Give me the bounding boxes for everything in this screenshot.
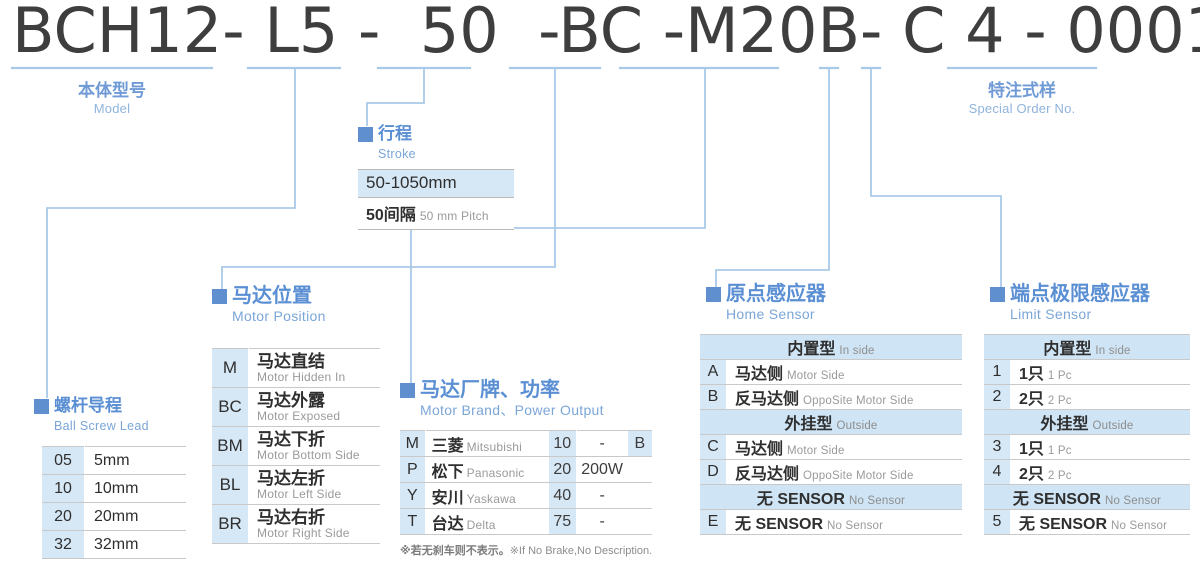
bullet-square-icon [34, 399, 49, 414]
section-stroke-cn-text: 行程 [378, 122, 412, 146]
table-ball-screw-lead: 055mm1010mm2020mm3232mm [42, 446, 186, 559]
stroke-pitch-cn: 50间隔 [366, 207, 416, 224]
home-sensor-value-cell: 反马达侧OppoSite Motor Side [727, 460, 963, 485]
section-motor-brand-title-en: Motor Brand、Power Output [420, 402, 604, 419]
limit-sensor-group-header: 内置型In side [984, 335, 1190, 360]
motor-brand-brake-cell [628, 509, 652, 535]
table-row: 11只1 Pc [984, 360, 1190, 385]
limit-sensor-code-cell: 5 [984, 510, 1011, 535]
home-sensor-value-cell: 无 SENSORNo Sensor [727, 510, 963, 535]
table-row: B反马达侧OppoSite Motor Side [700, 385, 962, 410]
stroke-pitch-en: 50 mm Pitch [420, 209, 489, 223]
motor-brand-power-cell: - [576, 483, 627, 509]
table-row: 22只2 Pc [984, 385, 1190, 410]
table-ball-screw-lead-body: 055mm1010mm2020mm3232mm [42, 447, 186, 559]
motor-brand-power-code-cell: 10 [549, 431, 576, 457]
home-sensor-group-header: 外挂型Outside [700, 410, 962, 435]
home-sensor-group-header: 无 SENSORNo Sensor [700, 485, 962, 510]
limit-sensor-group-row: 外挂型Outside [984, 410, 1190, 435]
motor-brand-brake-cell [628, 483, 652, 509]
motor-position-code-cell: BC [212, 388, 249, 427]
bullet-square-icon [358, 127, 373, 142]
table-row: M马达直结Motor Hidden In [212, 349, 380, 388]
limit-sensor-value-cell: 无 SENSORNo Sensor [1011, 510, 1191, 535]
motor-brand-name-cell: 安川Yaskawa [425, 483, 549, 509]
home-sensor-value-cell: 马达侧Motor Side [727, 360, 963, 385]
home-sensor-code-cell: B [700, 385, 727, 410]
home-sensor-code-cell: A [700, 360, 727, 385]
table-limit-sensor-body: 内置型In side11只1 Pc22只2 Pc外挂型Outside31只1 P… [984, 335, 1190, 535]
lead-code-cell: 10 [42, 475, 85, 503]
lead-value-cell: 20mm [85, 503, 187, 531]
label-model: 本体型号 Model [12, 80, 212, 117]
bullet-square-icon [400, 383, 415, 398]
table-motor-position: M马达直结Motor Hidden InBC马达外露Motor ExposedB… [212, 348, 380, 544]
home-sensor-group-row: 无 SENSORNo Sensor [700, 485, 962, 510]
home-sensor-group-row: 内置型In side [700, 335, 962, 360]
home-sensor-code-cell: D [700, 460, 727, 485]
section-ball-screw-lead-cn-text: 螺杆导程 [54, 394, 122, 418]
section-ball-screw-lead-title-en: Ball Screw Lead [54, 418, 149, 435]
stroke-pitch: 50间隔50 mm Pitch [358, 198, 514, 230]
section-limit-sensor-title-en: Limit Sensor [1010, 306, 1150, 323]
section-home-sensor-title-en: Home Sensor [726, 306, 826, 323]
motor-brand-power-cell: - [576, 431, 627, 457]
motor-position-code-cell: BR [212, 505, 249, 544]
section-home-sensor-heading: 原点感应器 Home Sensor [706, 282, 826, 323]
section-motor-brand-cn-text: 马达厂牌、功率 [420, 378, 560, 402]
motor-position-value-cell: 马达下折Motor Bottom Side [249, 427, 381, 466]
motor-position-code-cell: BL [212, 466, 249, 505]
label-model-en: Model [12, 101, 212, 117]
table-row: E无 SENSORNo Sensor [700, 510, 962, 535]
table-row: 31只1 Pc [984, 435, 1190, 460]
limit-sensor-value-cell: 1只1 Pc [1011, 435, 1191, 460]
table-row: 2020mm [42, 503, 186, 531]
lead-code-cell: 20 [42, 503, 85, 531]
label-special-order-cn: 特注式样 [948, 80, 1096, 101]
motor-brand-power-code-cell: 40 [549, 483, 576, 509]
section-ball-screw-lead-heading: 螺杆导程 Ball Screw Lead [34, 394, 149, 435]
table-row: C马达侧Motor Side [700, 435, 962, 460]
table-motor-brand-body: M三菱Mitsubishi10-BP松下Panasonic20200WY安川Ya… [400, 431, 652, 535]
stroke-range: 50-1050mm [358, 169, 514, 198]
motor-brand-power-cell: - [576, 509, 627, 535]
table-row: M三菱Mitsubishi10-B [400, 431, 652, 457]
table-limit-sensor: 内置型In side11只1 Pc22只2 Pc外挂型Outside31只1 P… [984, 334, 1190, 535]
section-motor-position-title-cn: 马达位置 [212, 284, 326, 308]
bullet-square-icon [212, 289, 227, 304]
section-limit-sensor-heading: 端点极限感应器 Limit Sensor [990, 282, 1150, 323]
motor-brand-brake-cell [628, 457, 652, 483]
motor-brand-code-cell: M [400, 431, 425, 457]
table-row: 055mm [42, 447, 186, 475]
section-stroke-heading: 行程 Stroke [358, 122, 416, 163]
section-limit-sensor-title-cn: 端点极限感应器 [990, 282, 1150, 306]
motor-position-value-cell: 马达右折Motor Right Side [249, 505, 381, 544]
home-sensor-value-cell: 马达侧Motor Side [727, 435, 963, 460]
model-number: BCH12- L5 - 50 -BC -M20B- C 4 - 0001 [12, 0, 1200, 62]
table-row: BC马达外露Motor Exposed [212, 388, 380, 427]
home-sensor-code-cell: C [700, 435, 727, 460]
motor-brand-name-cell: 三菱Mitsubishi [425, 431, 549, 457]
motor-brand-code-cell: P [400, 457, 425, 483]
motor-position-code-cell: BM [212, 427, 249, 466]
table-row: 3232mm [42, 531, 186, 559]
limit-sensor-code-cell: 2 [984, 385, 1011, 410]
motor-brand-name-cell: 松下Panasonic [425, 457, 549, 483]
motor-position-code-cell: M [212, 349, 249, 388]
section-motor-brand-heading: 马达厂牌、功率 Motor Brand、Power Output [400, 378, 604, 419]
section-motor-position-title-en: Motor Position [232, 308, 326, 325]
limit-sensor-code-cell: 1 [984, 360, 1011, 385]
table-row: 1010mm [42, 475, 186, 503]
limit-sensor-code-cell: 4 [984, 460, 1011, 485]
table-row: A马达侧Motor Side [700, 360, 962, 385]
home-sensor-code-cell: E [700, 510, 727, 535]
motor-brand-note-cn: ※若无刹车则不表示。 [400, 545, 510, 557]
table-row: BR马达右折Motor Right Side [212, 505, 380, 544]
lead-code-cell: 32 [42, 531, 85, 559]
motor-brand-code-cell: Y [400, 483, 425, 509]
section-stroke-title-en: Stroke [378, 146, 416, 163]
table-row: 5无 SENSORNo Sensor [984, 510, 1190, 535]
model-number-row: BCH12- L5 - 50 -BC -M20B- C 4 - 0001 [0, 0, 1200, 62]
motor-position-value-cell: 马达外露Motor Exposed [249, 388, 381, 427]
motor-position-value-cell: 马达左折Motor Left Side [249, 466, 381, 505]
motor-brand-power-code-cell: 20 [549, 457, 576, 483]
limit-sensor-value-cell: 2只2 Pc [1011, 460, 1191, 485]
table-home-sensor: 内置型In sideA马达侧Motor SideB反马达侧OppoSite Mo… [700, 334, 962, 535]
table-row: T台达Delta75- [400, 509, 652, 535]
section-stroke-title-cn: 行程 [358, 122, 416, 146]
motor-brand-power-code-cell: 75 [549, 509, 576, 535]
lead-code-cell: 05 [42, 447, 85, 475]
motor-brand-power-cell: 200W [576, 457, 627, 483]
section-home-sensor-title-cn: 原点感应器 [706, 282, 826, 306]
label-special-order-en: Special Order No. [948, 101, 1096, 117]
section-limit-sensor-cn-text: 端点极限感应器 [1010, 282, 1150, 306]
table-row: P松下Panasonic20200W [400, 457, 652, 483]
motor-brand-brake-cell: B [628, 431, 652, 457]
limit-sensor-code-cell: 3 [984, 435, 1011, 460]
section-motor-position-cn-text: 马达位置 [232, 284, 312, 308]
limit-sensor-group-row: 无 SENSORNo Sensor [984, 485, 1190, 510]
home-sensor-group-header: 内置型In side [700, 335, 962, 360]
table-home-sensor-body: 内置型In sideA马达侧Motor SideB反马达侧OppoSite Mo… [700, 335, 962, 535]
home-sensor-value-cell: 反马达侧OppoSite Motor Side [727, 385, 963, 410]
table-row: D反马达侧OppoSite Motor Side [700, 460, 962, 485]
motor-brand-note-en: ※If No Brake,No Description. [510, 545, 653, 557]
motor-brand-name-cell: 台达Delta [425, 509, 549, 535]
bullet-square-icon [706, 287, 721, 302]
table-row: BL马达左折Motor Left Side [212, 466, 380, 505]
motor-brand-note: ※若无刹车则不表示。※If No Brake,No Description. [400, 542, 652, 558]
section-home-sensor-cn-text: 原点感应器 [726, 282, 826, 306]
motor-position-value-cell: 马达直结Motor Hidden In [249, 349, 381, 388]
section-motor-position-heading: 马达位置 Motor Position [212, 284, 326, 325]
bullet-square-icon [990, 287, 1005, 302]
table-row: 42只2 Pc [984, 460, 1190, 485]
lead-value-cell: 5mm [85, 447, 187, 475]
stroke-value-box: 50-1050mm 50间隔50 mm Pitch [358, 169, 514, 230]
label-special-order: 特注式样 Special Order No. [948, 80, 1096, 117]
table-row: BM马达下折Motor Bottom Side [212, 427, 380, 466]
limit-sensor-group-row: 内置型In side [984, 335, 1190, 360]
label-model-cn: 本体型号 [12, 80, 212, 101]
limit-sensor-value-cell: 2只2 Pc [1011, 385, 1191, 410]
limit-sensor-group-header: 无 SENSORNo Sensor [984, 485, 1190, 510]
limit-sensor-group-header: 外挂型Outside [984, 410, 1190, 435]
limit-sensor-value-cell: 1只1 Pc [1011, 360, 1191, 385]
home-sensor-group-row: 外挂型Outside [700, 410, 962, 435]
lead-value-cell: 10mm [85, 475, 187, 503]
section-ball-screw-lead-title-cn: 螺杆导程 [34, 394, 149, 418]
motor-brand-code-cell: T [400, 509, 425, 535]
table-motor-position-body: M马达直结Motor Hidden InBC马达外露Motor ExposedB… [212, 349, 380, 544]
table-row: Y安川Yaskawa40- [400, 483, 652, 509]
table-motor-brand: M三菱Mitsubishi10-BP松下Panasonic20200WY安川Ya… [400, 430, 652, 535]
lead-value-cell: 32mm [85, 531, 187, 559]
section-motor-brand-title-cn: 马达厂牌、功率 [400, 378, 604, 402]
